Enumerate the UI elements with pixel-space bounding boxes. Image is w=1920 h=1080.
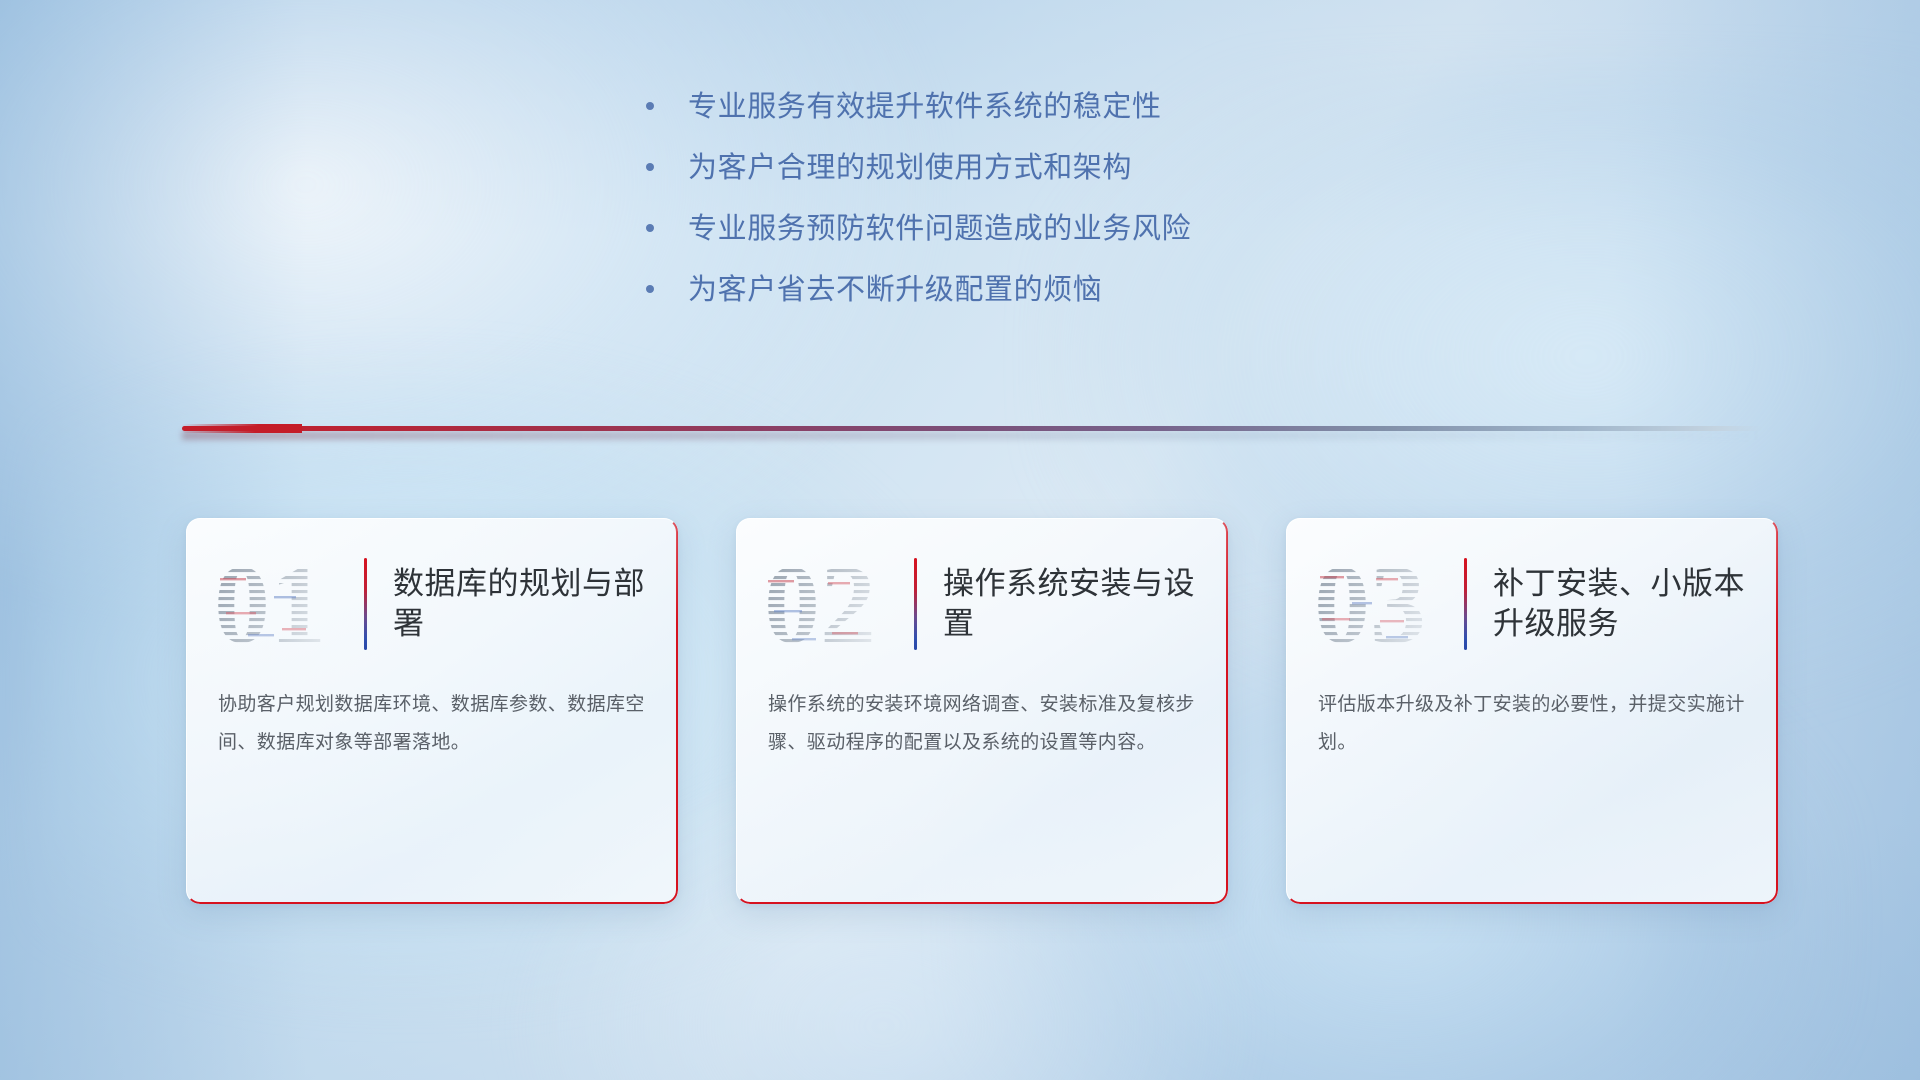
card-divider-bar	[1464, 558, 1467, 650]
service-card[interactable]: 01 数据库的规划与部署 协助客户规划数据库环境、数据库参数、数据库空间、数据库…	[186, 518, 678, 904]
card-number-watermark: 01	[212, 548, 360, 660]
divider-line	[182, 426, 1762, 431]
divider-shadow	[182, 431, 1762, 440]
benefits-bullet-list: 专业服务有效提升软件系统的稳定性 为客户合理的规划使用方式和架构 专业服务预防软…	[646, 88, 1486, 331]
svg-text:01: 01	[214, 548, 326, 660]
card-title: 补丁安装、小版本升级服务	[1493, 564, 1778, 645]
list-item: 为客户省去不断升级配置的烦恼	[646, 271, 1486, 310]
bullet-text: 专业服务有效提升软件系统的稳定性	[688, 88, 1162, 127]
bullet-dot-icon	[646, 163, 654, 171]
card-body-text: 评估版本升级及补丁安装的必要性，并提交实施计划。	[1318, 686, 1750, 762]
card-divider-bar	[914, 558, 917, 650]
list-item: 专业服务有效提升软件系统的稳定性	[646, 88, 1486, 127]
card-body-text: 协助客户规划数据库环境、数据库参数、数据库空间、数据库对象等部署落地。	[218, 686, 650, 762]
bullet-text: 为客户省去不断升级配置的烦恼	[688, 271, 1102, 310]
service-card[interactable]: 03 补丁安装、小版本升级服务 评估版本升级及补丁安装的必要性，并提交实施计划。	[1286, 518, 1778, 904]
section-divider	[182, 420, 1762, 450]
card-header: 02 操作系统安装与设置	[736, 544, 1228, 664]
card-header: 01 数据库的规划与部署	[186, 544, 678, 664]
list-item: 为客户合理的规划使用方式和架构	[646, 149, 1486, 188]
card-body-text: 操作系统的安装环境网络调查、安装标准及复核步骤、驱动程序的配置以及系统的设置等内…	[768, 686, 1200, 762]
card-number-watermark: 03	[1312, 548, 1460, 660]
service-card[interactable]: 02 操作系统安装与设置 操作系统的安装环境网络调查、安装标准及复核步骤、驱动程…	[736, 518, 1228, 904]
svg-text:02: 02	[764, 548, 876, 660]
card-header: 03 补丁安装、小版本升级服务	[1286, 544, 1778, 664]
bullet-text: 为客户合理的规划使用方式和架构	[688, 149, 1132, 188]
bullet-text: 专业服务预防软件问题造成的业务风险	[688, 210, 1191, 249]
bullet-dot-icon	[646, 224, 654, 232]
service-card-group: 01 数据库的规划与部署 协助客户规划数据库环境、数据库参数、数据库空间、数据库…	[0, 518, 1920, 938]
bullet-dot-icon	[646, 102, 654, 110]
card-number-watermark: 02	[762, 548, 910, 660]
card-title: 操作系统安装与设置	[943, 564, 1228, 645]
bullet-dot-icon	[646, 285, 654, 293]
divider-tip	[182, 424, 302, 433]
card-divider-bar	[364, 558, 367, 650]
list-item: 专业服务预防软件问题造成的业务风险	[646, 210, 1486, 249]
card-title: 数据库的规划与部署	[393, 564, 678, 645]
